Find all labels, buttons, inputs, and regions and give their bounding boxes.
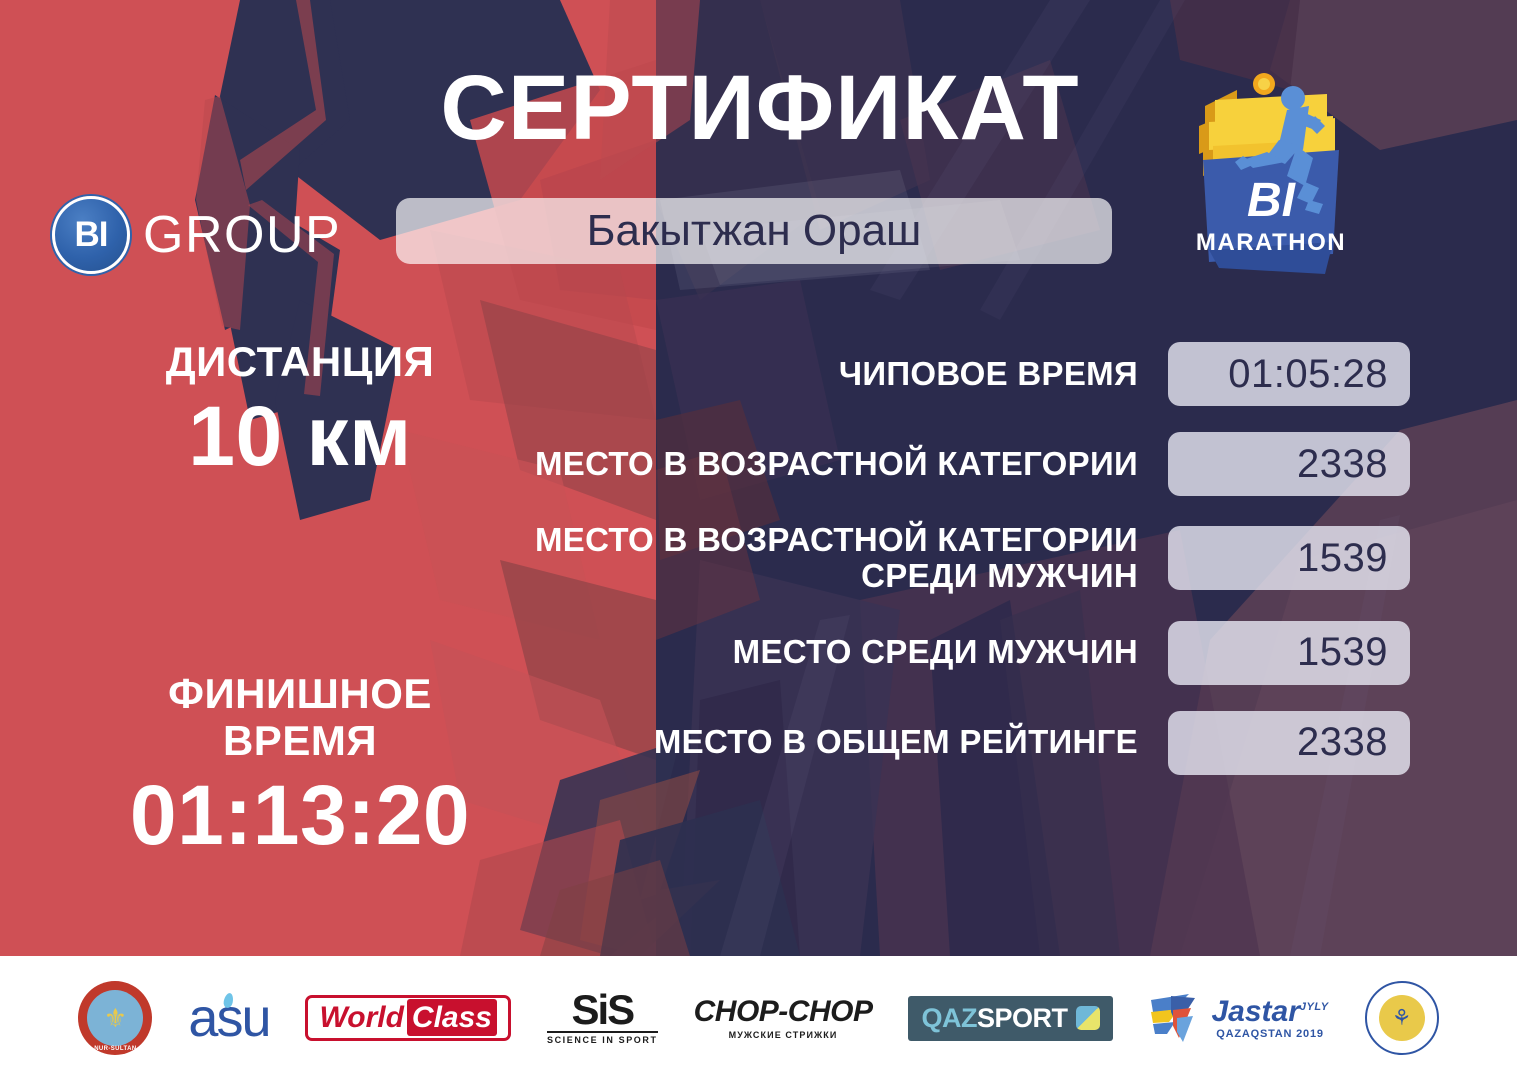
- stat-value-pill: 2338: [1168, 432, 1410, 496]
- nur-sultan-inner-icon: ⚜: [87, 990, 143, 1046]
- jastar-tagline: QAZAQSTAN 2019: [1216, 1028, 1324, 1040]
- sponsor-chop-chop: CHOP-CHOP МУЖСКИЕ СТРИЖКИ: [694, 997, 873, 1040]
- qazsport-text2: SPORT: [977, 1003, 1068, 1033]
- sponsor-world-class: WorldClass: [305, 995, 511, 1041]
- stat-row: МЕСТО В ОБЩЕМ РЕЙТИНГЕ 2338: [520, 711, 1410, 775]
- stat-value-pill: 1539: [1168, 526, 1410, 590]
- ministry-inner-icon: ⚘: [1379, 995, 1425, 1041]
- sponsor-ministry: ⚘: [1365, 981, 1439, 1055]
- stat-label: МЕСТО В ВОЗРАСТНОЙ КАТЕГОРИИ СРЕДИ МУЖЧИ…: [520, 522, 1138, 595]
- stat-value-pill: 2338: [1168, 711, 1410, 775]
- sis-text: SiS: [571, 991, 633, 1029]
- finish-time-label-line2: ВРЕМЯ: [0, 717, 600, 764]
- jastar-sup: JYLY: [1300, 1001, 1329, 1013]
- chop-chop-text: CHOP-CHOP: [694, 997, 873, 1027]
- jastar-textblock: JastarJYLY QAZAQSTAN 2019: [1211, 997, 1328, 1040]
- stat-value: 01:05:28: [1228, 352, 1388, 397]
- stat-label: МЕСТО СРЕДИ МУЖЧИН: [520, 634, 1138, 670]
- certificate-page: СЕРТИФИКАТ BI GROUP Бакытжан Ораш: [0, 0, 1517, 1080]
- page-title: СЕРТИФИКАТ: [380, 62, 1140, 154]
- bi-group-logo: BI GROUP: [52, 196, 341, 274]
- sponsor-sis: SiS SCIENCE IN SPORT: [547, 991, 658, 1045]
- world-class-text2: Class: [407, 999, 497, 1036]
- marathon-logo-marathon: MARATHON: [1196, 229, 1346, 256]
- ministry-emblem-icon: ⚘: [1365, 981, 1439, 1055]
- stat-row: МЕСТО СРЕДИ МУЖЧИН 1539: [520, 621, 1410, 685]
- stat-value-pill: 01:05:28: [1168, 342, 1410, 406]
- finish-time-label-line1: ФИНИШНОЕ: [0, 670, 600, 717]
- marathon-logo-bi: BI: [1247, 174, 1297, 227]
- sponsor-qazsport: QAZSPORT: [908, 996, 1113, 1041]
- qazsport-logo: QAZSPORT: [908, 996, 1113, 1041]
- jastar-arrow-icon: [1149, 992, 1205, 1044]
- qazsport-square-icon: [1076, 1006, 1100, 1030]
- chop-chop-tagline: МУЖСКИЕ СТРИЖКИ: [729, 1030, 838, 1040]
- distance-label: ДИСТАНЦИЯ: [0, 338, 600, 385]
- stat-row: МЕСТО В ВОЗРАСТНОЙ КАТЕГОРИИ СРЕДИ МУЖЧИ…: [520, 522, 1410, 595]
- bi-badge-icon: BI: [52, 196, 130, 274]
- jastar-text: Jastar: [1211, 995, 1299, 1028]
- distance-value: 10 км: [0, 391, 600, 482]
- world-class-text1: World: [319, 1001, 403, 1034]
- chop-chop-logo: CHOP-CHOP МУЖСКИЕ СТРИЖКИ: [694, 997, 873, 1040]
- bi-group-wordmark: GROUP: [143, 205, 341, 265]
- stat-label: МЕСТО В ОБЩЕМ РЕЙТИНГЕ: [520, 724, 1138, 760]
- stat-label: МЕСТО В ВОЗРАСТНОЙ КАТЕГОРИИ: [520, 446, 1138, 482]
- world-class-wordmark: WorldClass: [305, 995, 511, 1041]
- sponsor-bar: ⚜ NUR-SULTAN asu WorldClass SiS SCIENCE …: [0, 956, 1517, 1080]
- stat-value: 1539: [1297, 536, 1388, 581]
- nur-sultan-label: NUR-SULTAN: [78, 1046, 152, 1052]
- stat-label: ЧИПОВОЕ ВРЕМЯ: [520, 356, 1138, 392]
- distance-block: ДИСТАНЦИЯ 10 км: [0, 338, 600, 482]
- stat-value: 1539: [1297, 630, 1388, 675]
- finish-time-value: 01:13:20: [0, 770, 600, 861]
- participant-name-value: Бакытжан Ораш: [587, 206, 922, 256]
- sponsor-nur-sultan: ⚜ NUR-SULTAN: [78, 981, 152, 1055]
- jastar-wordmark: JastarJYLY: [1211, 997, 1328, 1027]
- finish-time-block: ФИНИШНОЕ ВРЕМЯ 01:13:20: [0, 670, 600, 861]
- stat-value: 2338: [1297, 720, 1388, 765]
- left-summary-column: ДИСТАНЦИЯ 10 км ФИНИШНОЕ ВРЕМЯ 01:13:20: [0, 338, 600, 861]
- stat-value-pill: 1539: [1168, 621, 1410, 685]
- qazsport-wordmark: QAZSPORT: [921, 1005, 1067, 1032]
- stat-row: МЕСТО В ВОЗРАСТНОЙ КАТЕГОРИИ 2338: [520, 432, 1410, 496]
- jastar-logo: JastarJYLY QAZAQSTAN 2019: [1149, 992, 1328, 1044]
- results-stats-list: ЧИПОВОЕ ВРЕМЯ 01:05:28 МЕСТО В ВОЗРАСТНО…: [520, 342, 1410, 775]
- qazsport-text1: QAZ: [921, 1003, 977, 1033]
- sis-tagline: SCIENCE IN SPORT: [547, 1031, 658, 1045]
- asu-wordmark: asu: [188, 987, 269, 1049]
- sis-logo: SiS SCIENCE IN SPORT: [547, 991, 658, 1045]
- bi-marathon-logo: BI MARATHON: [1175, 64, 1375, 294]
- nur-sultan-emblem-icon: ⚜ NUR-SULTAN: [78, 981, 152, 1055]
- sponsor-jastar: JastarJYLY QAZAQSTAN 2019: [1149, 992, 1328, 1044]
- stat-row: ЧИПОВОЕ ВРЕМЯ 01:05:28: [520, 342, 1410, 406]
- sponsor-asu: asu: [188, 987, 269, 1049]
- participant-name-field: Бакытжан Ораш: [396, 198, 1112, 264]
- stat-value: 2338: [1297, 442, 1388, 487]
